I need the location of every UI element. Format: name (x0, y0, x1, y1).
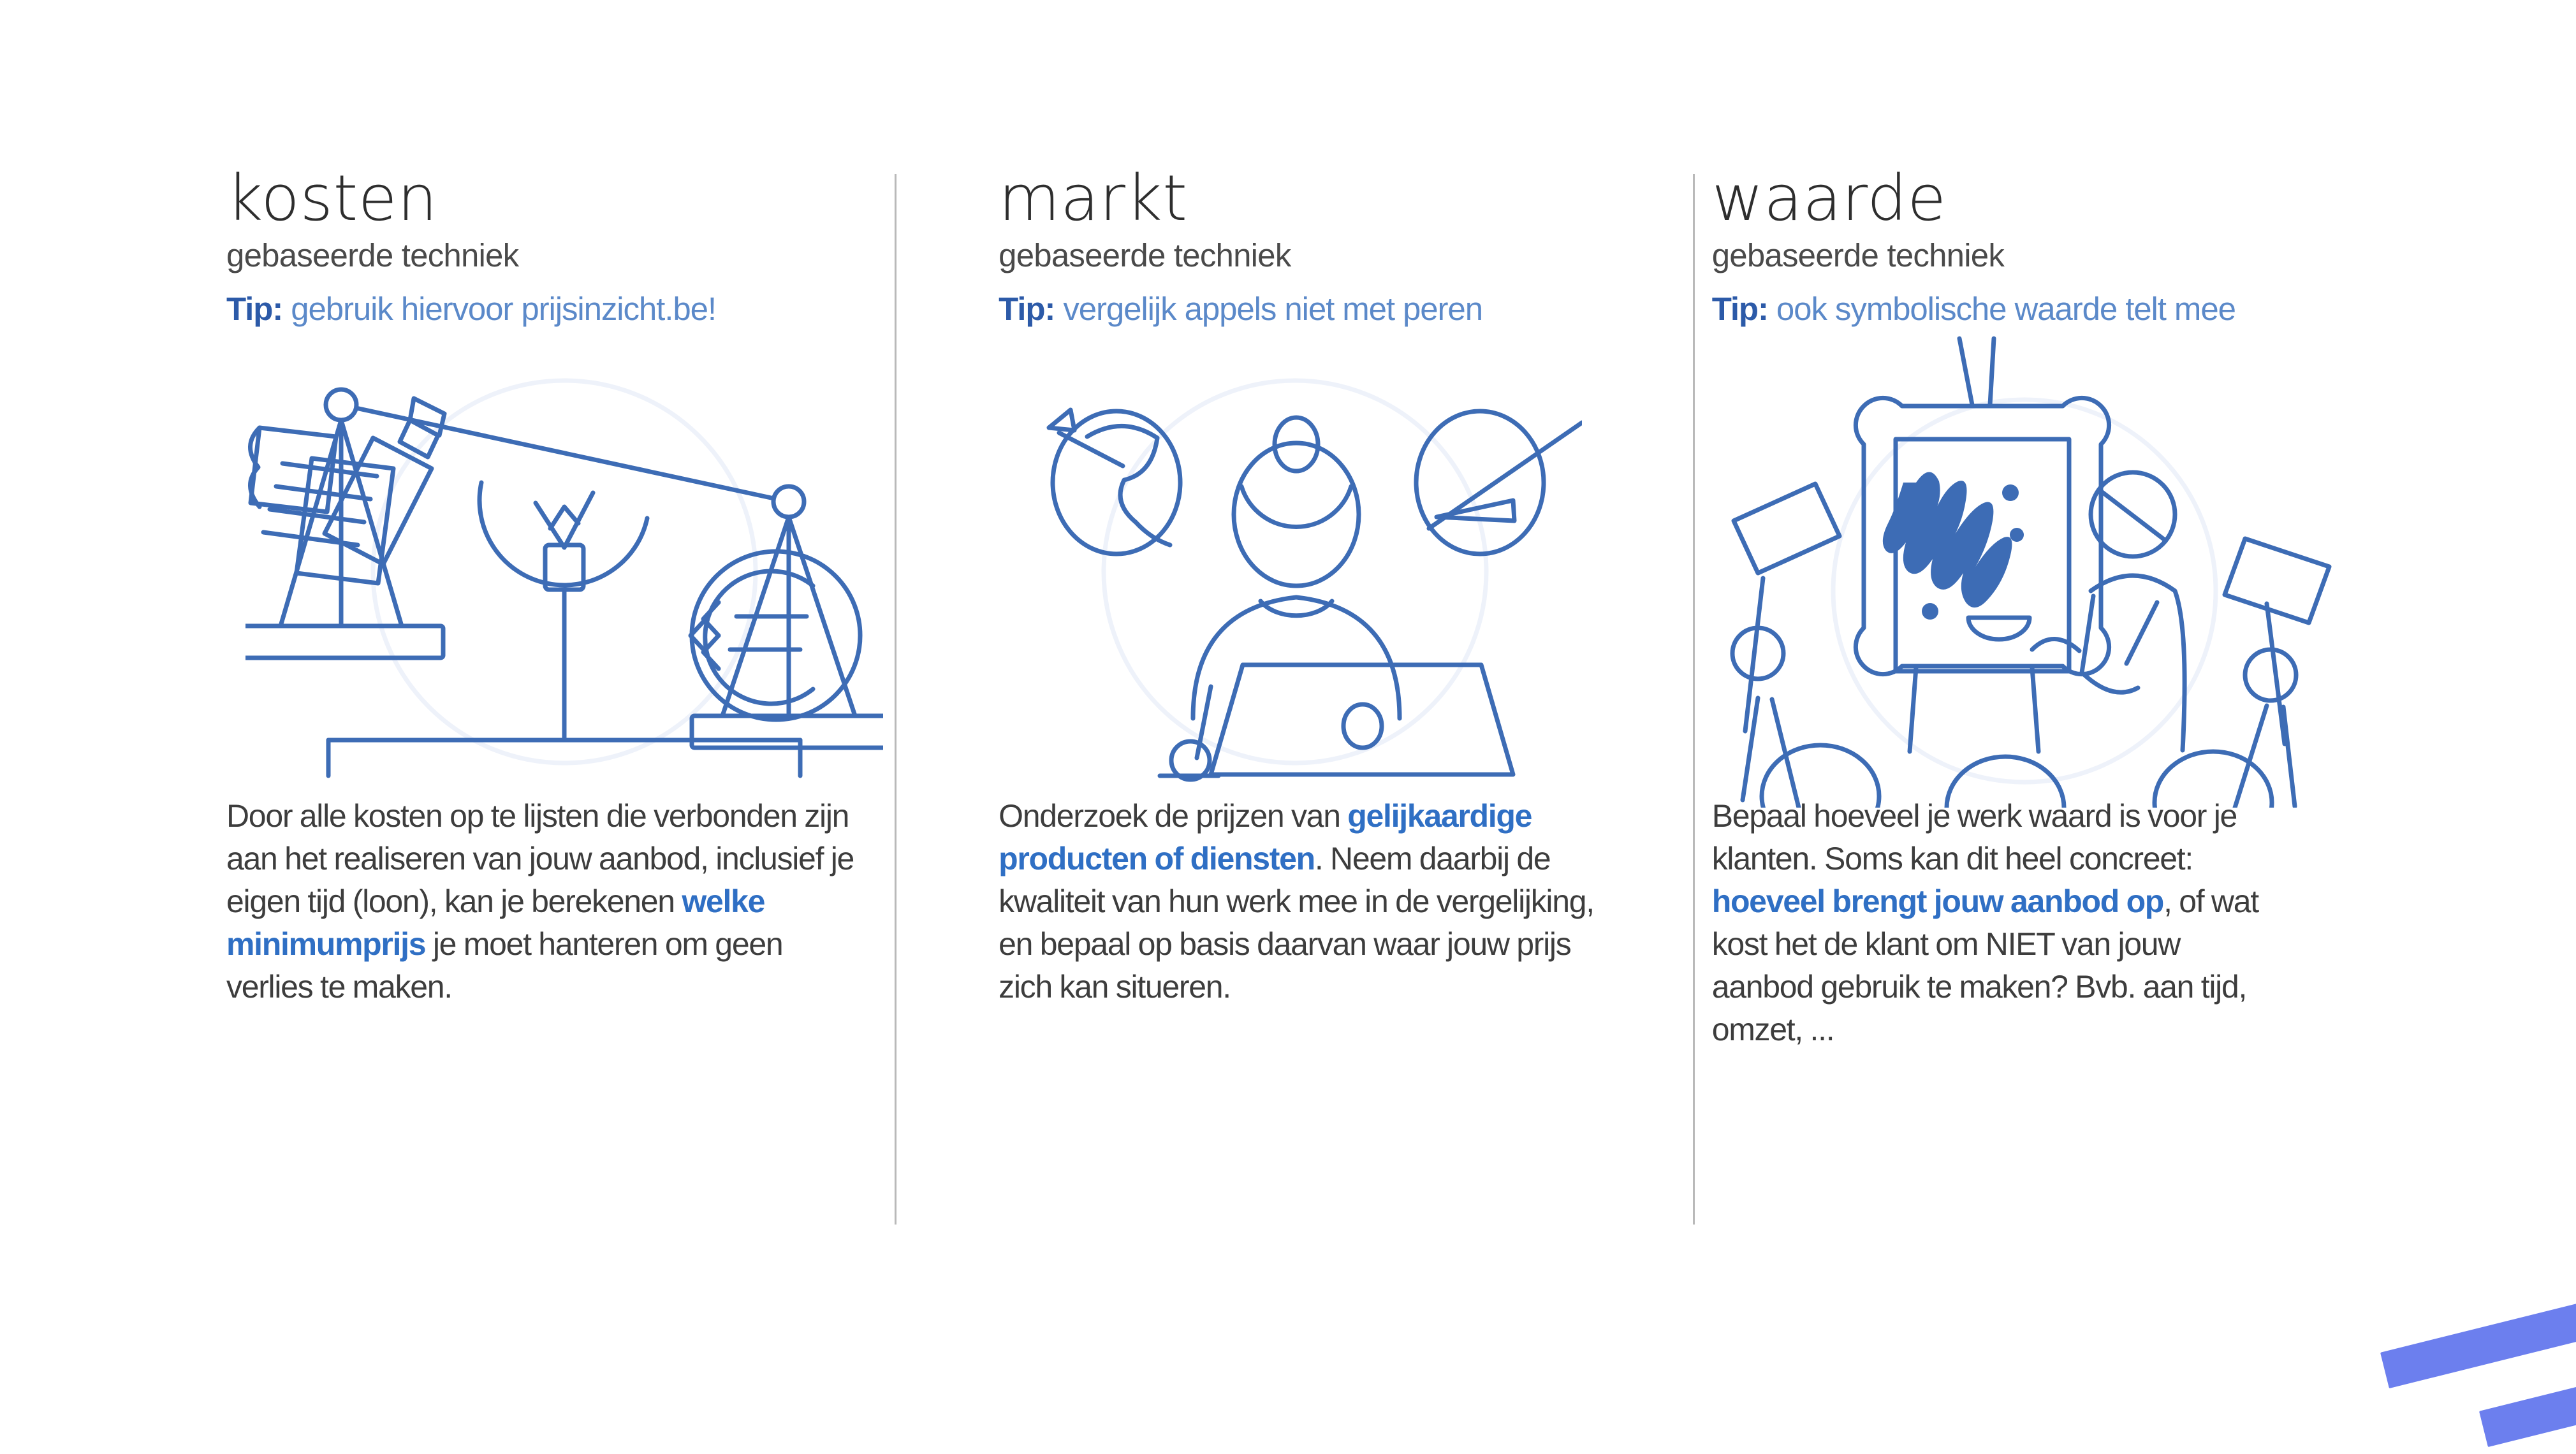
body-copy-waarde: Bepaal hoeveel je werk waard is voor je … (1712, 795, 2273, 1051)
three-column-layout: kosten gebaseerde techniek Tip: gebruik … (226, 167, 2331, 1238)
illustration-art-auction-easel (1712, 349, 2331, 795)
column-divider-2 (1693, 174, 1695, 1225)
body-text: Onderzoek de prijzen van (999, 798, 1347, 834)
tip-label-waarde: Tip: (1712, 291, 1768, 327)
tip-line-kosten: Tip: gebruik hiervoor prijsinzicht.be! (226, 291, 871, 327)
column-waarde: waarde gebaseerde techniek Tip: ook symb… (1642, 167, 2331, 1238)
balance-scale-euro-icon (245, 361, 883, 782)
column-kosten: kosten gebaseerde techniek Tip: gebruik … (226, 167, 928, 1238)
body-copy-markt: Onderzoek de prijzen van gelijkaardige p… (999, 795, 1597, 1008)
column-subtitle-kosten: gebaseerde techniek (226, 238, 871, 273)
illustration-balance-scale-euro (226, 349, 871, 795)
body-copy-kosten: Door alle kosten op te lijsten die verbo… (226, 795, 871, 1008)
column-title-kosten: kosten (226, 167, 871, 230)
slide-canvas: kosten gebaseerde techniek Tip: gebruik … (0, 0, 2576, 1454)
column-divider-1 (895, 174, 896, 1225)
person-laptop-research-icon (1008, 361, 1582, 782)
tip-text-markt: vergelijk appels niet met peren (1063, 291, 1482, 327)
tip-line-markt: Tip: vergelijk appels niet met peren (999, 291, 1597, 327)
tip-line-waarde: Tip: ook symbolische waarde telt mee (1712, 291, 2331, 327)
tip-label-kosten: Tip: (226, 291, 282, 327)
corner-bars-decoration (2346, 1288, 2576, 1454)
column-markt: markt gebaseerde techniek Tip: vergelijk… (928, 167, 1642, 1238)
corner-bar-lower (2479, 1365, 2576, 1447)
body-text: Bepaal hoeveel je werk waard is voor je … (1712, 798, 2237, 876)
column-title-waarde: waarde (1712, 167, 2331, 230)
corner-bar-upper (2380, 1288, 2576, 1388)
tip-label-markt: Tip: (999, 291, 1055, 327)
right-edge-fade-mask (2299, 967, 2426, 1241)
column-subtitle-markt: gebaseerde techniek (999, 238, 1597, 273)
column-subtitle-waarde: gebaseerde techniek (1712, 238, 2331, 273)
tip-text-waarde: ook symbolische waarde telt mee (1776, 291, 2236, 327)
illustration-person-laptop-research (999, 349, 1597, 795)
tip-text-kosten: gebruik hiervoor prijsinzicht.be! (291, 291, 716, 327)
column-title-markt: markt (999, 167, 1597, 230)
art-auction-easel-icon (1706, 323, 2343, 808)
body-emphasis: hoeveel brengt jouw aanbod op (1712, 883, 2163, 919)
